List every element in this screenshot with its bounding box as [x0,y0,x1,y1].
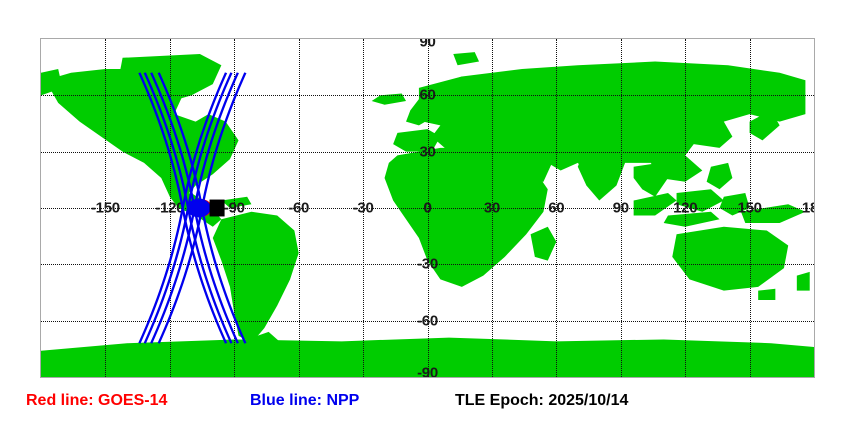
tle-epoch-label: TLE Epoch: 2025/10/14 [455,392,628,410]
world-map-frame: -300306090120150180-150-120-90-609060300… [40,38,815,378]
satellite-track-layer [41,39,814,377]
map-plot-root: -300306090120150180-150-120-90-609060300… [0,0,850,425]
legend-blue-line-npp: Blue line: NPP [250,392,359,410]
legend-caption: Red line: GOES-14 Blue line: NPP TLE Epo… [0,392,850,420]
crossing-node-markers [187,199,225,218]
node-black-marker [210,200,225,217]
npp-node-blob [187,199,211,218]
legend-red-line-goes14: Red line: GOES-14 [26,392,167,410]
